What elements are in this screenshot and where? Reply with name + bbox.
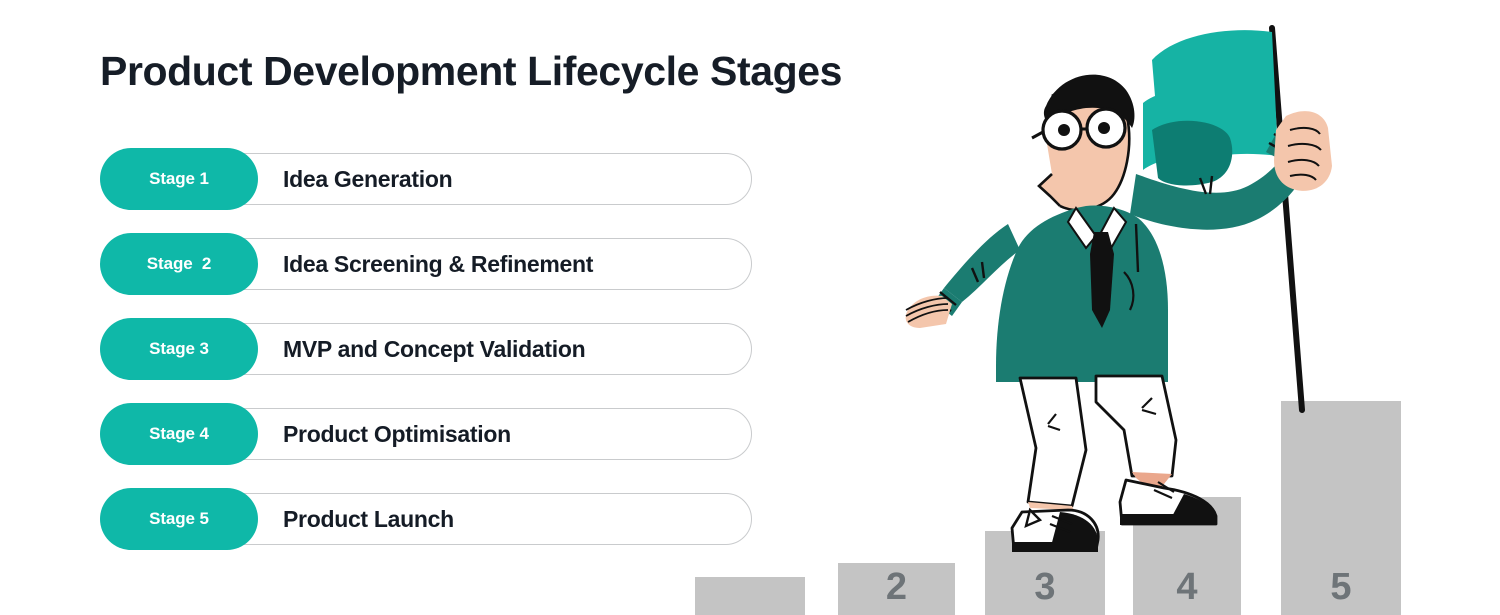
white-sneaker-front xyxy=(1120,472,1216,525)
stage-badge-label-5: Stage 5 xyxy=(149,509,209,529)
step-number-3: 3 xyxy=(985,566,1105,609)
stage-list: Stage 1 Idea Generation Stage 2 Idea Scr… xyxy=(100,148,752,550)
stage-title-5: Product Launch xyxy=(283,488,454,550)
stage-title-3: MVP and Concept Validation xyxy=(283,318,585,380)
head-with-glasses xyxy=(1032,75,1134,210)
stage-badge-label-4: Stage 4 xyxy=(149,424,209,444)
stage-badge-1[interactable]: Stage 1 xyxy=(100,148,258,210)
infographic-canvas: Product Development Lifecycle Stages 2 3… xyxy=(0,0,1500,615)
stage-row-5[interactable]: Stage 5 Product Launch xyxy=(100,488,752,550)
step-number-5: 5 xyxy=(1281,566,1401,609)
stage-badge-label-3: Stage 3 xyxy=(149,339,209,359)
teal-shirt xyxy=(996,206,1168,383)
businessman-illustration xyxy=(900,10,1420,570)
stage-row-3[interactable]: Stage 3 MVP and Concept Validation xyxy=(100,318,752,380)
stage-row-4[interactable]: Stage 4 Product Optimisation xyxy=(100,403,752,465)
left-hand-open xyxy=(906,296,952,328)
stage-badge-4[interactable]: Stage 4 xyxy=(100,403,258,465)
step-bar-1 xyxy=(695,577,805,615)
right-hand-gripping-pole xyxy=(1274,111,1332,191)
stage-row-2[interactable]: Stage 2 Idea Screening & Refinement xyxy=(100,233,752,295)
stage-title-4: Product Optimisation xyxy=(283,403,511,465)
stage-badge-2[interactable]: Stage 2 xyxy=(100,233,258,295)
stage-badge-3[interactable]: Stage 3 xyxy=(100,318,258,380)
flag-pole-icon xyxy=(1272,28,1302,410)
stage-badge-label-2: Stage 2 xyxy=(147,254,211,274)
white-sneaker-back xyxy=(1012,502,1098,552)
stage-title-1: Idea Generation xyxy=(283,148,452,210)
stage-row-1[interactable]: Stage 1 Idea Generation xyxy=(100,148,752,210)
stage-title-2: Idea Screening & Refinement xyxy=(283,233,593,295)
page-title: Product Development Lifecycle Stages xyxy=(100,48,842,95)
stage-badge-5[interactable]: Stage 5 xyxy=(100,488,258,550)
step-number-2: 2 xyxy=(838,566,955,609)
stage-badge-label-1: Stage 1 xyxy=(149,169,209,189)
step-number-4: 4 xyxy=(1133,566,1241,609)
teal-flag-icon xyxy=(1143,30,1278,185)
